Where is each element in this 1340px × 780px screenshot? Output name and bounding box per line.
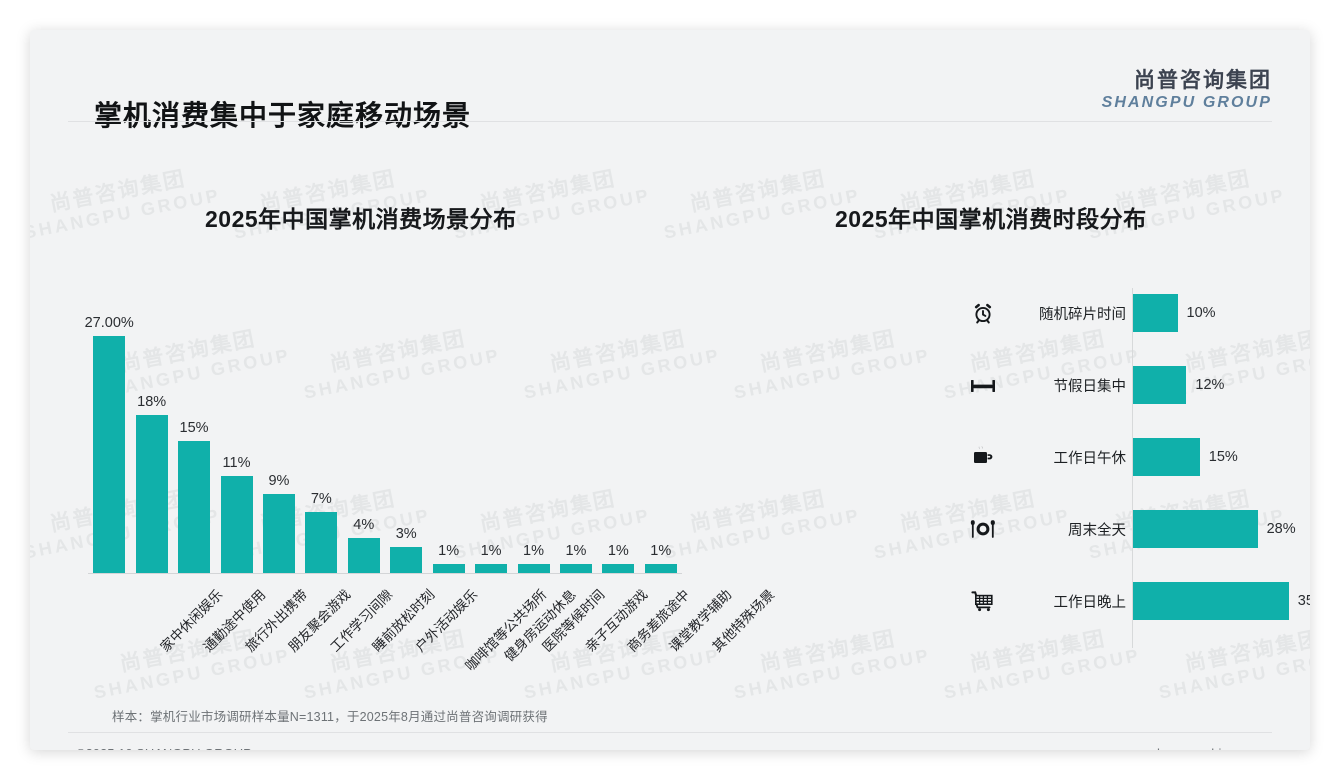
column-bar-group[interactable]: 15% (178, 420, 210, 573)
page-title: 掌机消费集中于家庭移动场景 (94, 94, 471, 134)
column-bar[interactable] (645, 564, 677, 573)
column-bar[interactable] (305, 512, 337, 573)
bed-icon (966, 375, 1000, 395)
brand-logo: 尚普咨询集团 SHANGPU GROUP (1102, 68, 1272, 113)
column-bar-group[interactable]: 11% (221, 455, 253, 573)
column-bar[interactable] (136, 415, 168, 573)
column-plot-area: 27.00%家中休闲娱乐18%通勤途中使用15%旅行外出携带11%朋友聚会游戏9… (88, 280, 682, 574)
coffee-cup-icon (966, 445, 1000, 469)
bar-track: 10% (1133, 288, 1216, 338)
bar-fill[interactable] (1133, 510, 1258, 548)
column-bar-group[interactable]: 4% (348, 517, 380, 573)
bar-row[interactable]: 工作日午休15% (950, 432, 1280, 482)
column-value-label: 11% (223, 455, 251, 471)
column-value-label: 1% (608, 543, 629, 559)
column-bar-group[interactable]: 18% (136, 394, 168, 573)
bar-value-label: 28% (1267, 521, 1296, 537)
bar-category-label: 周末全天 (1010, 519, 1126, 540)
scene-distribution-chart: 27.00%家中休闲娱乐18%通勤途中使用15%旅行外出携带11%朋友聚会游戏9… (82, 280, 682, 680)
bar-track: 12% (1133, 360, 1224, 410)
column-bar-group[interactable]: 1% (475, 543, 507, 573)
watermark: 尚普咨询集团SHANGPU GROUP (30, 161, 222, 242)
column-bar-group[interactable]: 3% (390, 526, 422, 573)
bar-fill[interactable] (1133, 582, 1289, 620)
bar-category-label: 节假日集中 (1010, 375, 1126, 396)
slide-card: 尚普咨询集团SHANGPU GROUP尚普咨询集团SHANGPU GROUP尚普… (30, 30, 1310, 750)
column-value-label: 1% (650, 543, 671, 559)
column-bar[interactable] (560, 564, 592, 573)
watermark: 尚普咨询集团SHANGPU GROUP (728, 621, 933, 702)
bar-value-label: 15% (1209, 449, 1238, 465)
watermark: 尚普咨询集团SHANGPU GROUP (658, 161, 863, 242)
bar-row[interactable]: 节假日集中12% (950, 360, 1280, 410)
bar-value-label: 12% (1195, 377, 1224, 393)
bar-fill[interactable] (1133, 438, 1200, 476)
left-chart-title: 2025年中国掌机消费场景分布 (205, 200, 517, 234)
column-bar[interactable] (390, 547, 422, 573)
brand-logo-en: SHANGPU GROUP (1102, 93, 1272, 113)
bar-row[interactable]: 随机碎片时间10% (950, 288, 1280, 338)
sample-footnote: 样本：掌机行业市场调研样本量N=1311，于2025年8月通过尚普咨询调研获得 (112, 706, 548, 725)
footer-divider (68, 732, 1272, 733)
footer-website: www.shangpu-china.com (1119, 746, 1264, 750)
column-bar[interactable] (221, 476, 253, 573)
column-value-label: 15% (180, 420, 209, 436)
bar-track: 28% (1133, 504, 1296, 554)
column-bar[interactable] (475, 564, 507, 573)
column-bar[interactable] (518, 564, 550, 573)
column-bar-group[interactable]: 1% (602, 543, 634, 573)
column-value-label: 1% (523, 543, 544, 559)
bar-category-label: 工作日晚上 (1010, 591, 1126, 612)
column-bar[interactable] (263, 494, 295, 573)
column-bar-group[interactable]: 9% (263, 473, 295, 573)
column-value-label: 1% (481, 543, 502, 559)
watermark: 尚普咨询集团SHANGPU GROUP (728, 321, 933, 402)
bar-track: 15% (1133, 432, 1238, 482)
column-value-label: 3% (396, 526, 417, 542)
bar-track: 35% (1133, 576, 1310, 626)
slide-header: 掌机消费集中于家庭移动场景 尚普咨询集团 SHANGPU GROUP (30, 30, 1310, 122)
time-slot-distribution-chart: 随机碎片时间10%节假日集中12%工作日午休15%周末全天28%工作日晚上35% (950, 288, 1280, 648)
column-bar[interactable] (602, 564, 634, 573)
bar-value-label: 10% (1187, 305, 1216, 321)
header-divider (68, 121, 1272, 122)
dinner-plate-icon (966, 518, 1000, 540)
column-value-label: 1% (565, 543, 586, 559)
column-bar-group[interactable]: 27.00% (93, 315, 125, 573)
bar-fill[interactable] (1133, 366, 1186, 404)
bar-value-label: 35% (1298, 593, 1310, 609)
column-value-label: 7% (311, 491, 332, 507)
column-value-label: 18% (137, 394, 166, 410)
brand-logo-cn: 尚普咨询集团 (1102, 68, 1272, 93)
bar-row[interactable]: 工作日晚上35% (950, 576, 1280, 626)
column-value-label: 9% (268, 473, 289, 489)
bar-fill[interactable] (1133, 294, 1178, 332)
column-bar-group[interactable]: 1% (560, 543, 592, 573)
column-value-label: 27.00% (85, 315, 134, 331)
column-bar-group[interactable]: 7% (305, 491, 337, 573)
column-baseline-axis (88, 573, 682, 574)
footer-copyright: ©2025.10 SHANGPU GROUP (76, 746, 252, 750)
column-bar-group[interactable]: 1% (518, 543, 550, 573)
column-bar[interactable] (348, 538, 380, 573)
column-value-label: 1% (438, 543, 459, 559)
column-bar-group[interactable]: 1% (433, 543, 465, 573)
shopping-cart-icon (966, 589, 1000, 613)
bar-category-label: 工作日午休 (1010, 447, 1126, 468)
alarm-clock-icon (966, 301, 1000, 325)
column-value-label: 4% (353, 517, 374, 533)
column-bar[interactable] (178, 441, 210, 573)
right-chart-title: 2025年中国掌机消费时段分布 (835, 200, 1147, 234)
column-bar[interactable] (433, 564, 465, 573)
column-bar-group[interactable]: 1% (645, 543, 677, 573)
column-bar[interactable] (93, 336, 125, 573)
bar-category-label: 随机碎片时间 (1010, 303, 1126, 324)
bar-row[interactable]: 周末全天28% (950, 504, 1280, 554)
watermark: 尚普咨询集团SHANGPU GROUP (658, 481, 863, 562)
